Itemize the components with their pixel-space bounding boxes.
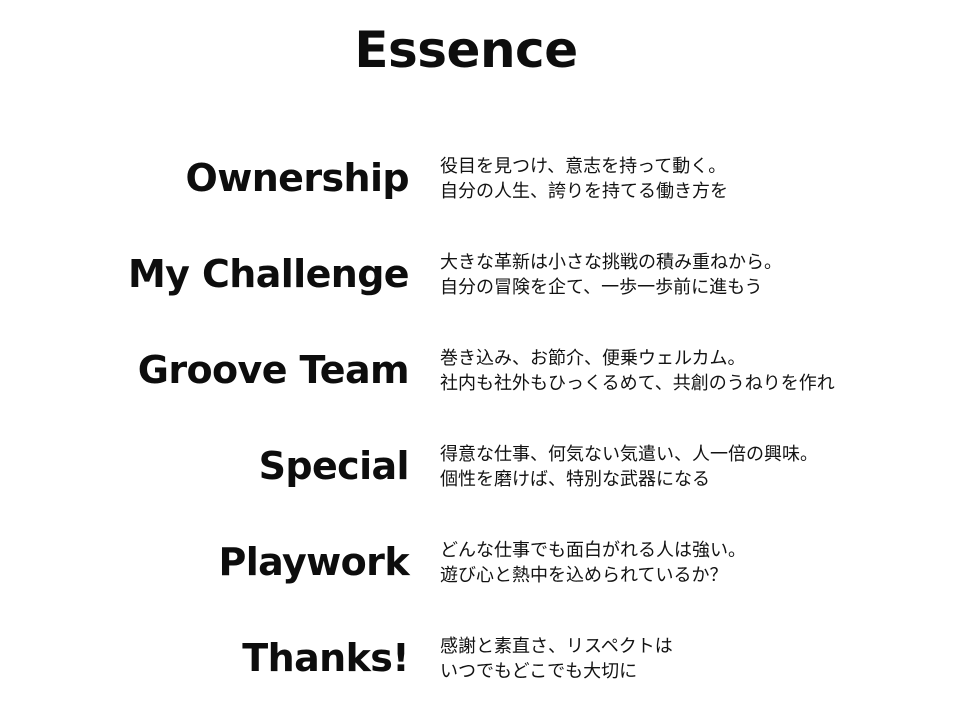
value-row: My Challenge大きな革新は小さな挑戦の積み重ねから。自分の冒険を企て、… xyxy=(0,227,960,323)
value-description-line: 自分の冒険を企て、一歩一歩前に進もう xyxy=(440,275,960,300)
slide-canvas: Essence Ownership役目を見つけ、意志を持って動く。自分の人生、誇… xyxy=(0,0,960,720)
value-description-line: 遊び心と熱中を込められているか？ xyxy=(440,563,960,588)
value-description: どんな仕事でも面白がれる人は強い。遊び心と熱中を込められているか？ xyxy=(409,538,960,588)
value-description-line: 感謝と素直さ、リスペクトは xyxy=(440,634,960,659)
value-description-line: どんな仕事でも面白がれる人は強い。 xyxy=(440,538,960,563)
value-heading: Ownership xyxy=(0,159,409,199)
value-heading: My Challenge xyxy=(0,255,409,295)
value-row: Special得意な仕事、何気ない気遣い、人一倍の興味。個性を磨けば、特別な武器… xyxy=(0,419,960,515)
value-heading: Groove Team xyxy=(0,351,409,391)
value-description-line: 得意な仕事、何気ない気遣い、人一倍の興味。 xyxy=(440,442,960,467)
value-description-line: 自分の人生、誇りを持てる働き方を xyxy=(440,179,960,204)
value-description: 得意な仕事、何気ない気遣い、人一倍の興味。個性を磨けば、特別な武器になる xyxy=(409,442,960,492)
value-description-line: 社内も社外もひっくるめて、共創のうねりを作れ xyxy=(440,371,960,396)
value-row: Playworkどんな仕事でも面白がれる人は強い。遊び心と熱中を込められているか… xyxy=(0,515,960,611)
value-description-line: 大きな革新は小さな挑戦の積み重ねから。 xyxy=(440,250,960,275)
value-description-line: 個性を磨けば、特別な武器になる xyxy=(440,467,960,492)
value-row: Groove Team巻き込み、お節介、便乗ウェルカム。社内も社外もひっくるめて… xyxy=(0,323,960,419)
value-description: 巻き込み、お節介、便乗ウェルカム。社内も社外もひっくるめて、共創のうねりを作れ xyxy=(409,346,960,396)
value-description: 大きな革新は小さな挑戦の積み重ねから。自分の冒険を企て、一歩一歩前に進もう xyxy=(409,250,960,300)
page-title: Essence xyxy=(0,22,932,80)
value-list: Ownership役目を見つけ、意志を持って動く。自分の人生、誇りを持てる働き方… xyxy=(0,131,960,707)
value-description-line: いつでもどこでも大切に xyxy=(440,659,960,684)
value-description: 役目を見つけ、意志を持って動く。自分の人生、誇りを持てる働き方を xyxy=(409,154,960,204)
value-heading: Playwork xyxy=(0,543,409,583)
value-description-line: 巻き込み、お節介、便乗ウェルカム。 xyxy=(440,346,960,371)
value-description: 感謝と素直さ、リスペクトはいつでもどこでも大切に xyxy=(409,634,960,684)
value-heading: Thanks! xyxy=(0,639,409,679)
value-heading: Special xyxy=(0,447,409,487)
value-description-line: 役目を見つけ、意志を持って動く。 xyxy=(440,154,960,179)
value-row: Ownership役目を見つけ、意志を持って動く。自分の人生、誇りを持てる働き方… xyxy=(0,131,960,227)
value-row: Thanks!感謝と素直さ、リスペクトはいつでもどこでも大切に xyxy=(0,611,960,707)
